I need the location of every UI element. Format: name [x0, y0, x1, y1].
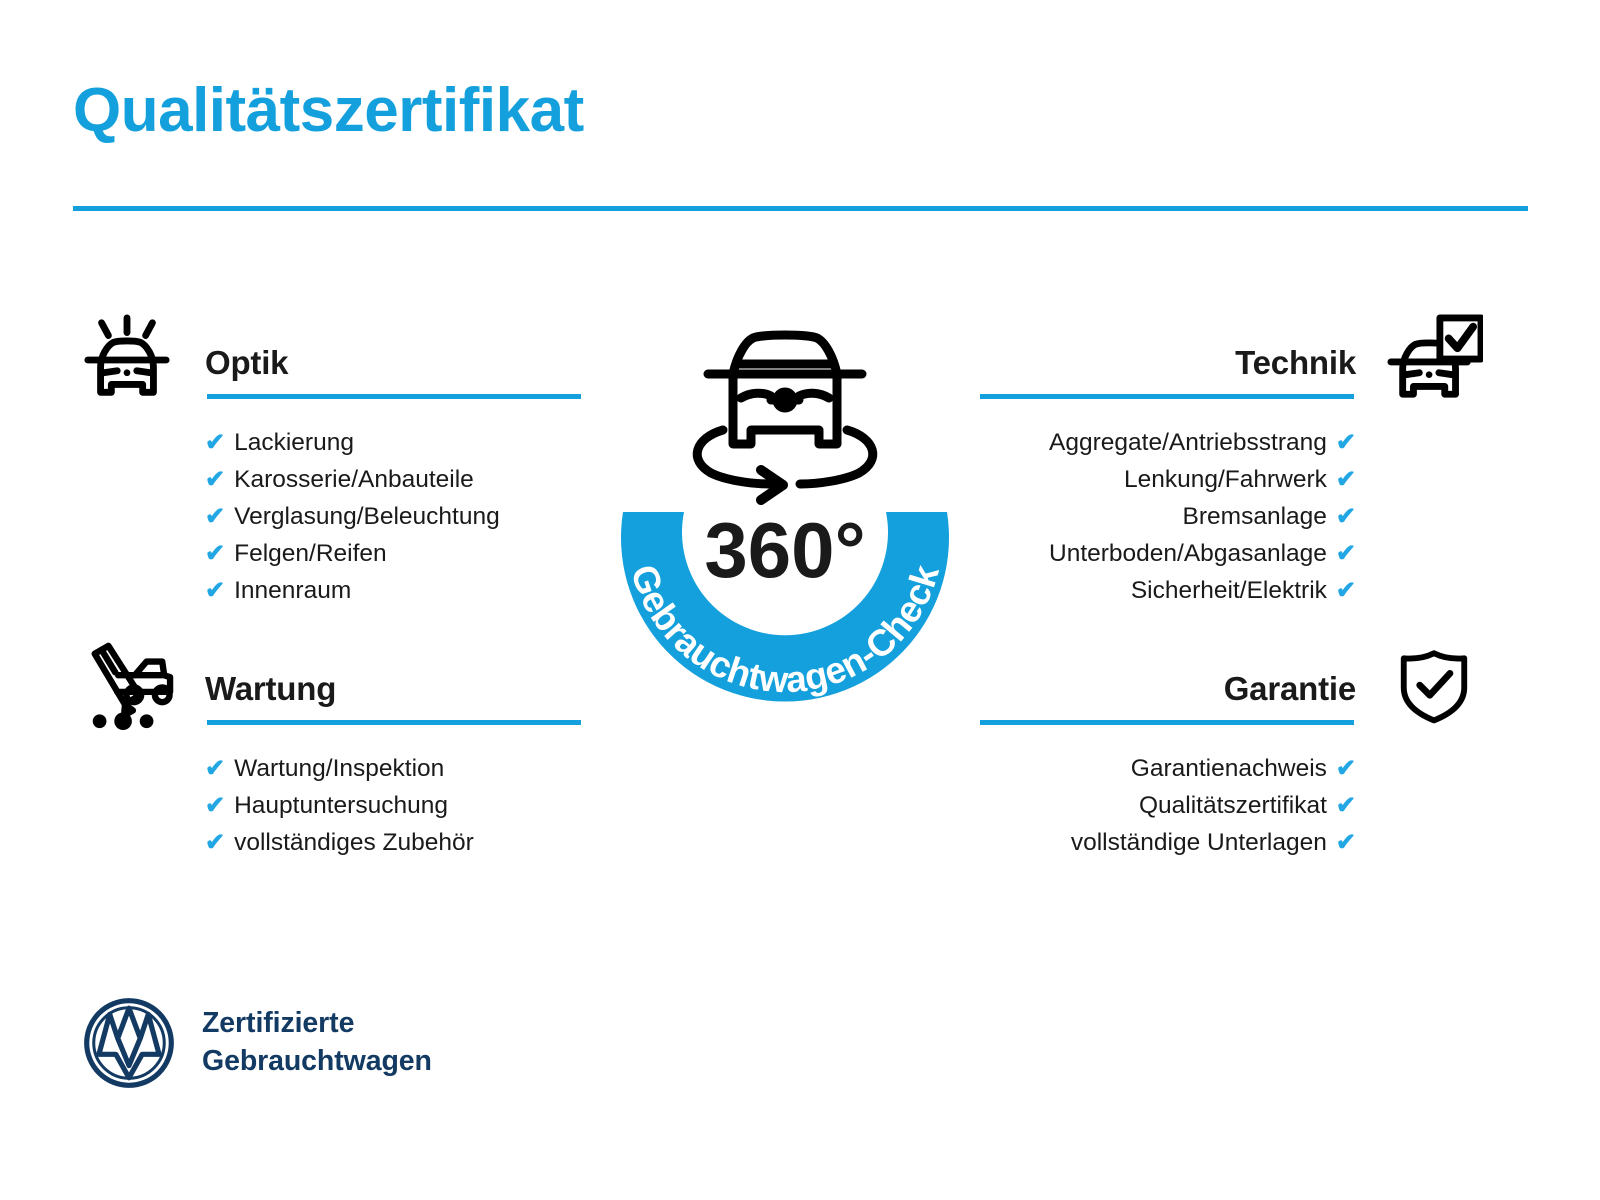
- list-item-label: Qualitätszertifikat: [1139, 787, 1327, 824]
- list-item: Sicherheit/Elektrik✔: [978, 572, 1488, 609]
- car-shine-icon: [73, 314, 181, 406]
- list-item: Unterboden/Abgasanlage✔: [978, 535, 1488, 572]
- section-optik-header: Optik: [73, 314, 583, 408]
- shield-check-icon: [1380, 640, 1488, 732]
- section-optik: Optik ✔Lackierung ✔Karosserie/Anbauteile…: [73, 314, 583, 609]
- list-item: ✔Verglasung/Beleuchtung: [73, 498, 583, 535]
- list-item: Qualitätszertifikat✔: [978, 787, 1488, 824]
- list-item-label: Garantienachweis: [1131, 750, 1327, 787]
- section-garantie: Garantie Garantienachweis✔ Qualitätszert…: [978, 640, 1488, 861]
- car-rotate-360-icon: [697, 335, 873, 500]
- check-icon: ✔: [205, 824, 225, 861]
- check-icon: ✔: [205, 787, 225, 824]
- section-technik-underline: [980, 394, 1354, 399]
- list-item-label: Felgen/Reifen: [234, 535, 387, 572]
- list-item-label: Unterboden/Abgasanlage: [1049, 535, 1327, 572]
- check-icon: ✔: [1336, 535, 1356, 572]
- check-icon: ✔: [205, 572, 225, 609]
- badge-360-gebrauchtwagen-check: Gebrauchtwagen-Check 360°: [565, 312, 1005, 756]
- volkswagen-logo: [82, 996, 176, 1090]
- page-title: Qualitätszertifikat: [73, 78, 584, 143]
- car-checkbox-icon: [1380, 314, 1488, 406]
- section-optik-list: ✔Lackierung ✔Karosserie/Anbauteile ✔Verg…: [73, 424, 583, 609]
- check-icon: ✔: [1336, 824, 1356, 861]
- section-technik-list: Aggregate/Antriebsstrang✔ Lenkung/Fahrwe…: [978, 424, 1488, 609]
- list-item: vollständige Unterlagen✔: [978, 824, 1488, 861]
- section-optik-title: Optik: [205, 344, 288, 382]
- check-icon: ✔: [205, 461, 225, 498]
- list-item: Bremsanlage✔: [978, 498, 1488, 535]
- check-icon: ✔: [205, 498, 225, 535]
- list-item: Garantienachweis✔: [978, 750, 1488, 787]
- section-wartung-list: ✔Wartung/Inspektion ✔Hauptuntersuchung ✔…: [73, 750, 583, 861]
- check-icon: ✔: [1336, 424, 1356, 461]
- badge-center-label: 360°: [704, 506, 865, 594]
- section-technik-title: Technik: [1235, 344, 1356, 382]
- section-garantie-header: Garantie: [978, 640, 1488, 734]
- check-icon: ✔: [1336, 750, 1356, 787]
- list-item-label: vollständiges Zubehör: [234, 824, 474, 861]
- list-item-label: Lenkung/Fahrwerk: [1124, 461, 1327, 498]
- section-wartung-underline: [207, 720, 581, 725]
- check-icon: ✔: [1336, 498, 1356, 535]
- footer-logo-text: Zertifizierte Gebrauchtwagen: [202, 1005, 432, 1081]
- header-divider: [73, 206, 1528, 211]
- section-wartung-title: Wartung: [205, 670, 336, 708]
- list-item-label: Wartung/Inspektion: [234, 750, 444, 787]
- check-icon: ✔: [205, 424, 225, 461]
- section-technik: Technik Aggregate/Antriebsstrang✔ Lenkun…: [978, 314, 1488, 609]
- section-garantie-underline: [980, 720, 1354, 725]
- section-garantie-title: Garantie: [1224, 670, 1356, 708]
- check-icon: ✔: [1336, 461, 1356, 498]
- list-item: ✔Felgen/Reifen: [73, 535, 583, 572]
- check-icon: ✔: [1336, 787, 1356, 824]
- list-item: Lenkung/Fahrwerk✔: [978, 461, 1488, 498]
- footer-logo-line2: Gebrauchtwagen: [202, 1043, 432, 1081]
- list-item-label: Lackierung: [234, 424, 354, 461]
- check-icon: ✔: [1336, 572, 1356, 609]
- list-item-label: vollständige Unterlagen: [1071, 824, 1327, 861]
- section-optik-underline: [207, 394, 581, 399]
- certificate-page: Qualitätszertifikat: [0, 0, 1600, 1200]
- list-item: ✔Karosserie/Anbauteile: [73, 461, 583, 498]
- section-garantie-list: Garantienachweis✔ Qualitätszertifikat✔ v…: [978, 750, 1488, 861]
- list-item-label: Sicherheit/Elektrik: [1131, 572, 1327, 609]
- section-technik-header: Technik: [978, 314, 1488, 408]
- list-item: Aggregate/Antriebsstrang✔: [978, 424, 1488, 461]
- list-item: ✔vollständiges Zubehör: [73, 824, 583, 861]
- list-item-label: Bremsanlage: [1183, 498, 1327, 535]
- section-wartung: Wartung ✔Wartung/Inspektion ✔Hauptunters…: [73, 640, 583, 861]
- list-item: ✔Lackierung: [73, 424, 583, 461]
- section-wartung-header: Wartung: [73, 640, 583, 734]
- list-item-label: Karosserie/Anbauteile: [234, 461, 474, 498]
- footer-logo: Zertifizierte Gebrauchtwagen: [82, 996, 432, 1090]
- footer-logo-line1: Zertifizierte: [202, 1005, 432, 1043]
- check-icon: ✔: [205, 750, 225, 787]
- list-item-label: Verglasung/Beleuchtung: [234, 498, 500, 535]
- list-item: ✔Hauptuntersuchung: [73, 787, 583, 824]
- check-icon: ✔: [205, 535, 225, 572]
- list-item: ✔Innenraum: [73, 572, 583, 609]
- list-item-label: Aggregate/Antriebsstrang: [1049, 424, 1327, 461]
- list-item: ✔Wartung/Inspektion: [73, 750, 583, 787]
- list-item-label: Innenraum: [234, 572, 351, 609]
- car-pencil-service-icon: [73, 640, 181, 732]
- list-item-label: Hauptuntersuchung: [234, 787, 448, 824]
